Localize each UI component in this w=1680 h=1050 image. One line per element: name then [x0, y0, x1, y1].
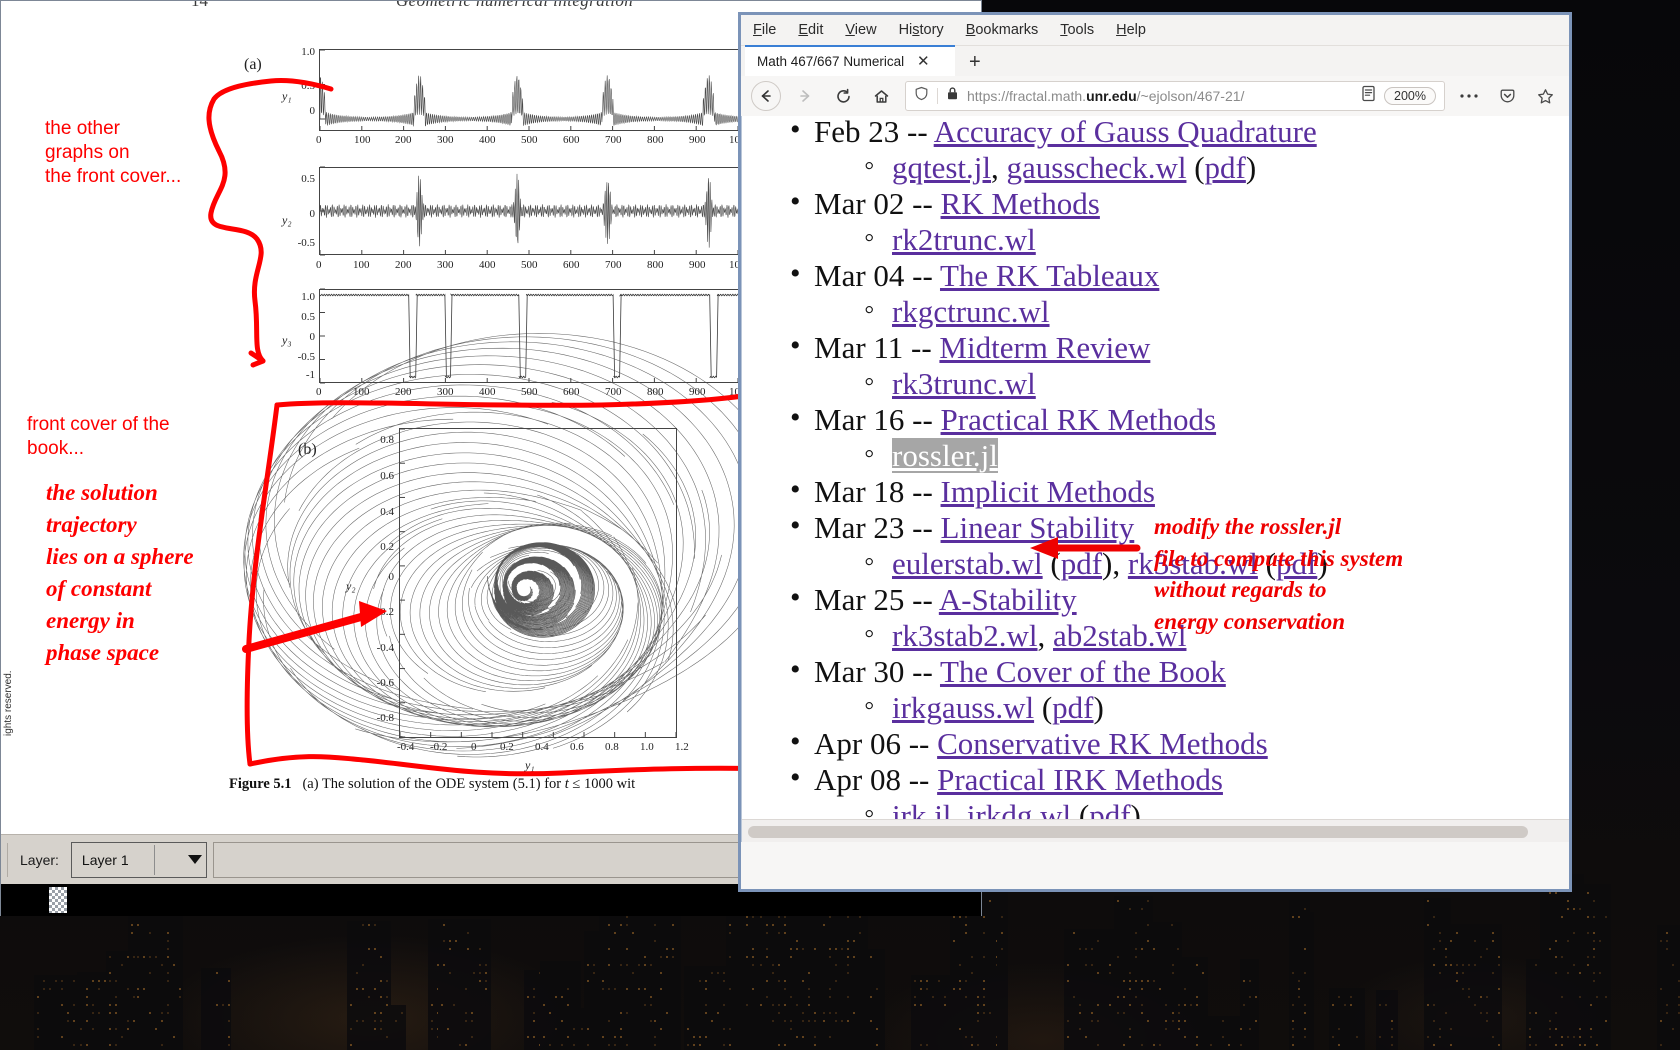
list-item: Mar 11 -- Midterm Review	[742, 330, 1569, 366]
menu-help[interactable]: Help	[1116, 22, 1146, 38]
syllabus-list[interactable]: opolynom.wl, gaussquad.jlFeb 23 -- Accur…	[742, 116, 1569, 834]
plot-panel-phase	[399, 428, 677, 738]
xtick: 900	[689, 259, 706, 271]
xtick: 700	[605, 134, 622, 146]
list-item-text: Mar 25 --	[814, 582, 939, 617]
browser-window[interactable]: File Edit View History Bookmarks Tools H…	[738, 12, 1572, 892]
xtick: 0.6	[570, 741, 584, 753]
xtick: 200	[395, 386, 412, 398]
ytick: 0.4	[368, 506, 394, 518]
list-item-text: ),	[1102, 546, 1128, 581]
ytick: -0.6	[361, 677, 394, 689]
link[interactable]: eulerstab.wl	[892, 546, 1043, 581]
list-item: rossler.jl	[742, 438, 1569, 474]
link[interactable]: pdf	[1205, 150, 1246, 185]
list-item: Apr 08 -- Practical IRK Methods	[742, 762, 1569, 798]
ellipsis-icon[interactable]	[1455, 82, 1483, 110]
xtick: 400	[479, 134, 496, 146]
xtick: 400	[479, 386, 496, 398]
xtick: 0	[316, 386, 322, 398]
ytick: -0.5	[283, 237, 315, 249]
xtick: 300	[437, 134, 454, 146]
xtick: 0.2	[500, 741, 514, 753]
annotation-modify-rossler: modify the rossler.jl file to compute th…	[1154, 511, 1403, 637]
menu-view[interactable]: View	[845, 22, 876, 38]
list-item-text: Mar 23 --	[814, 510, 941, 545]
back-button[interactable]	[751, 81, 781, 111]
ytick: -0.4	[361, 642, 394, 654]
axis-label-y3: y₃	[282, 333, 292, 348]
xtick: 600	[563, 134, 580, 146]
browser-navbar[interactable]: https://fractal.math.unr.edu/~ejolson/46…	[741, 76, 1569, 116]
figure-caption-text: (a) The solution of the ODE system (5.1)…	[292, 776, 636, 792]
xtick: -0.4	[397, 741, 414, 753]
xtick: 0.4	[535, 741, 549, 753]
tab-title: Math 467/667 Numerical Me	[757, 54, 907, 69]
xtick: 900	[689, 386, 706, 398]
list-item-text: Mar 18 --	[814, 474, 941, 509]
list-item-text: Mar 11 --	[814, 330, 939, 365]
ytick: 0.8	[368, 434, 394, 446]
list-item-text: Feb 23 --	[814, 116, 934, 149]
link[interactable]: Conservative RK Methods	[937, 726, 1268, 761]
list-item: Apr 06 -- Conservative RK Methods	[742, 726, 1569, 762]
link[interactable]: rk3stab2.wl	[892, 618, 1038, 653]
urlbar-divider	[937, 88, 938, 104]
link[interactable]: gausscheck.wl	[1007, 150, 1187, 185]
annotation-sphere-energy: the solution trajectory lies on a sphere…	[46, 477, 194, 669]
list-item-text: (	[1043, 546, 1061, 581]
list-item: gqtest.jl, gausscheck.wl (pdf)	[742, 150, 1569, 186]
xtick: 900	[689, 134, 706, 146]
reload-button[interactable]	[829, 82, 857, 110]
menu-bookmarks[interactable]: Bookmarks	[966, 22, 1039, 38]
xtick: 100	[353, 259, 370, 271]
url-text[interactable]: https://fractal.math.unr.edu/~ejolson/46…	[967, 88, 1244, 104]
xtick: 500	[521, 134, 538, 146]
ytick: -0.5	[287, 351, 315, 363]
url-bar[interactable]: https://fractal.math.unr.edu/~ejolson/46…	[905, 81, 1445, 111]
lock-icon[interactable]	[946, 86, 959, 106]
xtick: 300	[437, 386, 454, 398]
xtick: 800	[647, 386, 664, 398]
figure-caption-label: Figure 5.1	[229, 776, 292, 792]
link[interactable]: Implicit Methods	[941, 474, 1155, 509]
star-icon[interactable]	[1531, 82, 1559, 110]
link[interactable]: Practical IRK Methods	[937, 762, 1223, 797]
list-item: Mar 16 -- Practical RK Methods	[742, 402, 1569, 438]
list-item-text: Apr 08 --	[814, 762, 937, 797]
list-item-text: Mar 30 --	[814, 654, 940, 689]
panel-b-label: (b)	[298, 441, 317, 459]
list-item: Mar 18 -- Implicit Methods	[742, 474, 1569, 510]
tab-math467[interactable]: Math 467/667 Numerical Me ✕	[745, 45, 955, 76]
browser-tabstrip[interactable]: Math 467/667 Numerical Me ✕ +	[741, 46, 1569, 76]
plot-panel-a	[319, 49, 739, 131]
link[interactable]: Midterm Review	[939, 330, 1150, 365]
running-head: Geometric numerical integration	[396, 1, 633, 11]
list-item-text: Apr 06 --	[814, 726, 937, 761]
list-item: irkgauss.wl (pdf)	[742, 690, 1569, 726]
menu-history[interactable]: History	[899, 22, 944, 38]
menu-edit[interactable]: Edit	[798, 22, 823, 38]
link[interactable]: irkgauss.wl	[892, 690, 1034, 725]
ytick: -0.2	[361, 606, 394, 618]
xtick: 700	[605, 386, 622, 398]
layer-select[interactable]: Layer 1	[71, 842, 207, 878]
ytick: 0.5	[289, 173, 315, 185]
list-item-text: Mar 16 --	[814, 402, 941, 437]
link-selected[interactable]: rossler.jl	[892, 438, 998, 473]
xtick: -0.2	[430, 741, 447, 753]
ytick: -1	[291, 369, 315, 381]
toolbar-divider	[7, 843, 8, 877]
ytick: 0	[293, 105, 315, 117]
layer-label: Layer:	[14, 852, 65, 868]
xtick: 1.2	[675, 741, 689, 753]
xtick: 600	[563, 259, 580, 271]
list-item-text: )	[1093, 690, 1103, 725]
plot-panel-c	[319, 289, 739, 383]
link[interactable]: RK Methods	[941, 186, 1100, 221]
link[interactable]: The Cover of the Book	[940, 654, 1226, 689]
reader-view-icon[interactable]	[1361, 85, 1376, 107]
ytick: 0.2	[368, 541, 394, 553]
ytick: 0.5	[293, 80, 315, 92]
list-item-text: Mar 02 --	[814, 186, 941, 221]
list-item-text: )	[1246, 150, 1256, 185]
xtick: 600	[563, 386, 580, 398]
xtick: 0.8	[605, 741, 619, 753]
xtick: 800	[647, 259, 664, 271]
menu-file[interactable]: File	[753, 22, 776, 38]
home-button[interactable]	[867, 82, 895, 110]
menu-tools[interactable]: Tools	[1060, 22, 1094, 38]
shield-icon[interactable]	[914, 86, 929, 106]
link[interactable]: rk3trunc.wl	[892, 366, 1036, 401]
forward-button[interactable]	[791, 82, 819, 110]
ytick: 1.0	[293, 46, 315, 58]
xtick: 500	[521, 386, 538, 398]
combo-divider	[154, 845, 155, 875]
panel-a-label: (a)	[244, 56, 262, 74]
chevron-down-icon[interactable]	[188, 855, 202, 864]
ytick: 1.0	[293, 291, 315, 303]
axis-label-y1-phase: y₁	[525, 758, 535, 773]
browser-menubar[interactable]: File Edit View History Bookmarks Tools H…	[741, 15, 1569, 46]
list-item: Mar 30 -- The Cover of the Book	[742, 654, 1569, 690]
annotation-other-graphs: the other graphs on the front cover...	[45, 117, 181, 189]
layer-select-value: Layer 1	[82, 852, 129, 868]
ytick: 0.6	[368, 470, 394, 482]
list-item-text: ,	[991, 150, 1007, 185]
link[interactable]: rkgctrunc.wl	[892, 294, 1050, 329]
axis-label-y1: y₁	[282, 89, 292, 104]
xtick: 500	[521, 259, 538, 271]
link[interactable]: pdf	[1061, 546, 1102, 581]
link[interactable]: Practical RK Methods	[941, 402, 1217, 437]
new-tab-button[interactable]: +	[955, 48, 995, 76]
list-item-text: (	[1186, 150, 1204, 185]
xtick: 700	[605, 259, 622, 271]
plot-panel-b	[319, 167, 739, 255]
list-item: rk2trunc.wl	[742, 222, 1569, 258]
ytick: 0	[293, 331, 315, 343]
copyright-notice: ights reserved.	[3, 720, 14, 736]
list-item: rkgctrunc.wl	[742, 294, 1569, 330]
link[interactable]: Linear Stability	[941, 510, 1135, 545]
zoom-level-badge[interactable]: 200%	[1384, 87, 1436, 105]
xtick: 100	[353, 386, 370, 398]
xtick: 200	[395, 259, 412, 271]
xtick: 0	[316, 134, 322, 146]
link[interactable]: Accuracy of Gauss Quadrature	[934, 116, 1317, 149]
page-content[interactable]: opolynom.wl, gaussquad.jlFeb 23 -- Accur…	[741, 116, 1569, 842]
link[interactable]: rk2trunc.wl	[892, 222, 1036, 257]
xtick: 1.0	[640, 741, 654, 753]
xtick: 800	[647, 134, 664, 146]
xtick: 100	[354, 134, 371, 146]
list-item: rk3trunc.wl	[742, 366, 1569, 402]
xtick: 400	[479, 259, 496, 271]
xtick: 0	[471, 741, 477, 753]
link[interactable]: pdf	[1052, 690, 1093, 725]
list-item: Mar 02 -- RK Methods	[742, 186, 1569, 222]
xtick: 300	[437, 259, 454, 271]
pocket-icon[interactable]	[1493, 82, 1521, 110]
ytick: 0	[368, 571, 394, 583]
xtick: 200	[395, 134, 412, 146]
ytick: 0.5	[293, 311, 315, 323]
ytick: -0.8	[361, 712, 394, 724]
link[interactable]: The RK Tableaux	[940, 258, 1159, 293]
axis-label-y2-phase: y₂	[346, 579, 356, 594]
close-icon[interactable]: ✕	[917, 54, 930, 69]
list-item: Feb 23 -- Accuracy of Gauss Quadrature	[742, 116, 1569, 150]
browser-statusbar	[742, 819, 1569, 842]
page-number: 14	[191, 1, 208, 11]
canvas-scroll-handle[interactable]	[49, 887, 67, 913]
annotation-front-cover: front cover of the book...	[27, 413, 170, 461]
list-item-text: (	[1034, 690, 1052, 725]
list-item: Mar 04 -- The RK Tableaux	[742, 258, 1569, 294]
ytick: 0	[289, 208, 315, 220]
horizontal-scrollbar[interactable]	[748, 826, 1528, 838]
list-item-text: ,	[1038, 618, 1054, 653]
link[interactable]: gqtest.jl	[892, 150, 991, 185]
xtick: 0	[316, 259, 322, 271]
link[interactable]: A-Stability	[939, 582, 1077, 617]
list-item-text: Mar 04 --	[814, 258, 940, 293]
